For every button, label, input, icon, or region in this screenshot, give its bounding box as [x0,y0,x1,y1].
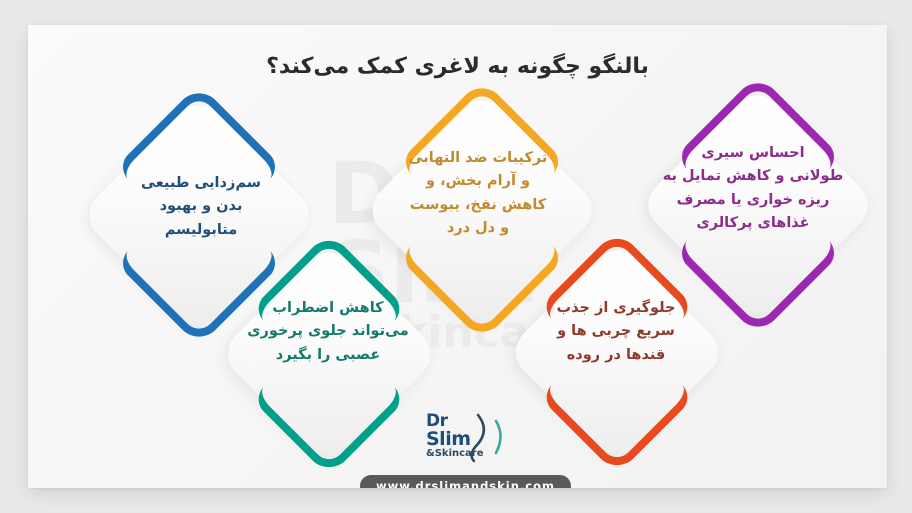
node-text-satiety: احساس سیری طولانی و کاهش تمایل به ریزه خ… [628,142,878,236]
node-text-detox: سم‌زدایی طبیعی بدن و بهبود متابولیسم [98,172,304,242]
website-url-pill[interactable]: www.drslimandskin.com [360,475,571,488]
infographic-canvas: Dr Slim &Skincare بالنگو چگونه به لاغری … [0,0,912,513]
body-silhouette-icon [420,411,530,467]
node-text-absorption: جلوگیری از جذب سریع چربی ها و قندها در ر… [500,297,732,367]
infographic-card: Dr Slim &Skincare بالنگو چگونه به لاغری … [28,25,887,488]
node-text-anxiety: کاهش اضطراب می‌تواند جلوی پرخوری عصبی را… [208,297,448,367]
page-title: بالنگو چگونه به لاغری کمک می‌کند؟ [28,54,887,79]
node-text-anti-inflammatory: ترکیبات ضد التهابی و آرام بخش، و کاهش نف… [368,147,588,241]
brand-logo: Dr Slim &Skincare [420,411,530,467]
